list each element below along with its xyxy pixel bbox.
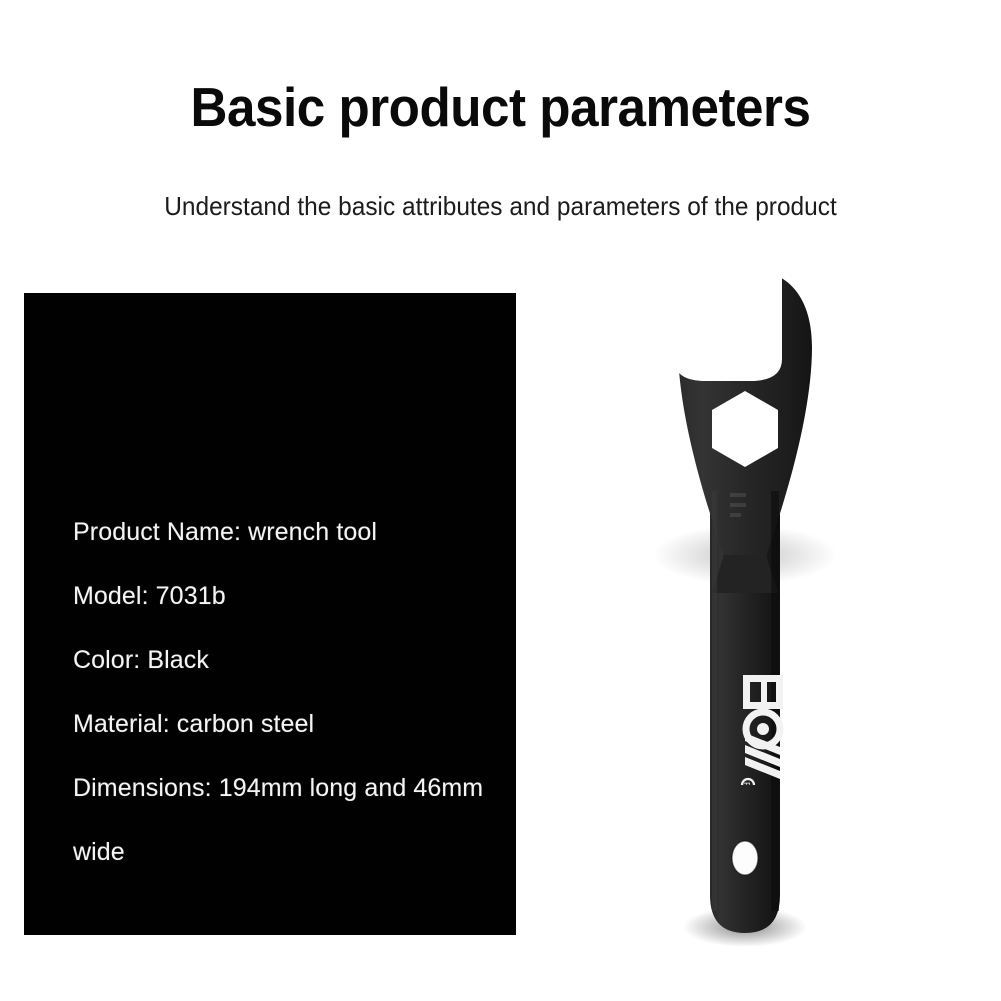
spec-line-color: Color: Black — [73, 628, 498, 692]
page-title: Basic product parameters — [35, 76, 966, 138]
handle-shading — [771, 491, 779, 911]
spec-line-dimensions: Dimensions: 194mm long and 46mm wide — [73, 756, 498, 884]
spec-line-material: Material: carbon steel — [73, 692, 498, 756]
spec-line-product-name: Product Name: wrench tool — [73, 500, 498, 564]
spec-line-model: Model: 7031b — [73, 564, 498, 628]
product-parameters-page: Basic product parameters Understand the … — [0, 0, 1001, 1001]
wrench-head — [678, 269, 812, 573]
product-image-wrench — [600, 255, 900, 965]
spec-panel: Product Name: wrench tool Model: 7031b C… — [24, 293, 516, 935]
page-subtitle: Understand the basic attributes and para… — [30, 190, 971, 222]
handle-highlight — [712, 491, 717, 911]
spec-list: Product Name: wrench tool Model: 7031b C… — [73, 500, 498, 884]
